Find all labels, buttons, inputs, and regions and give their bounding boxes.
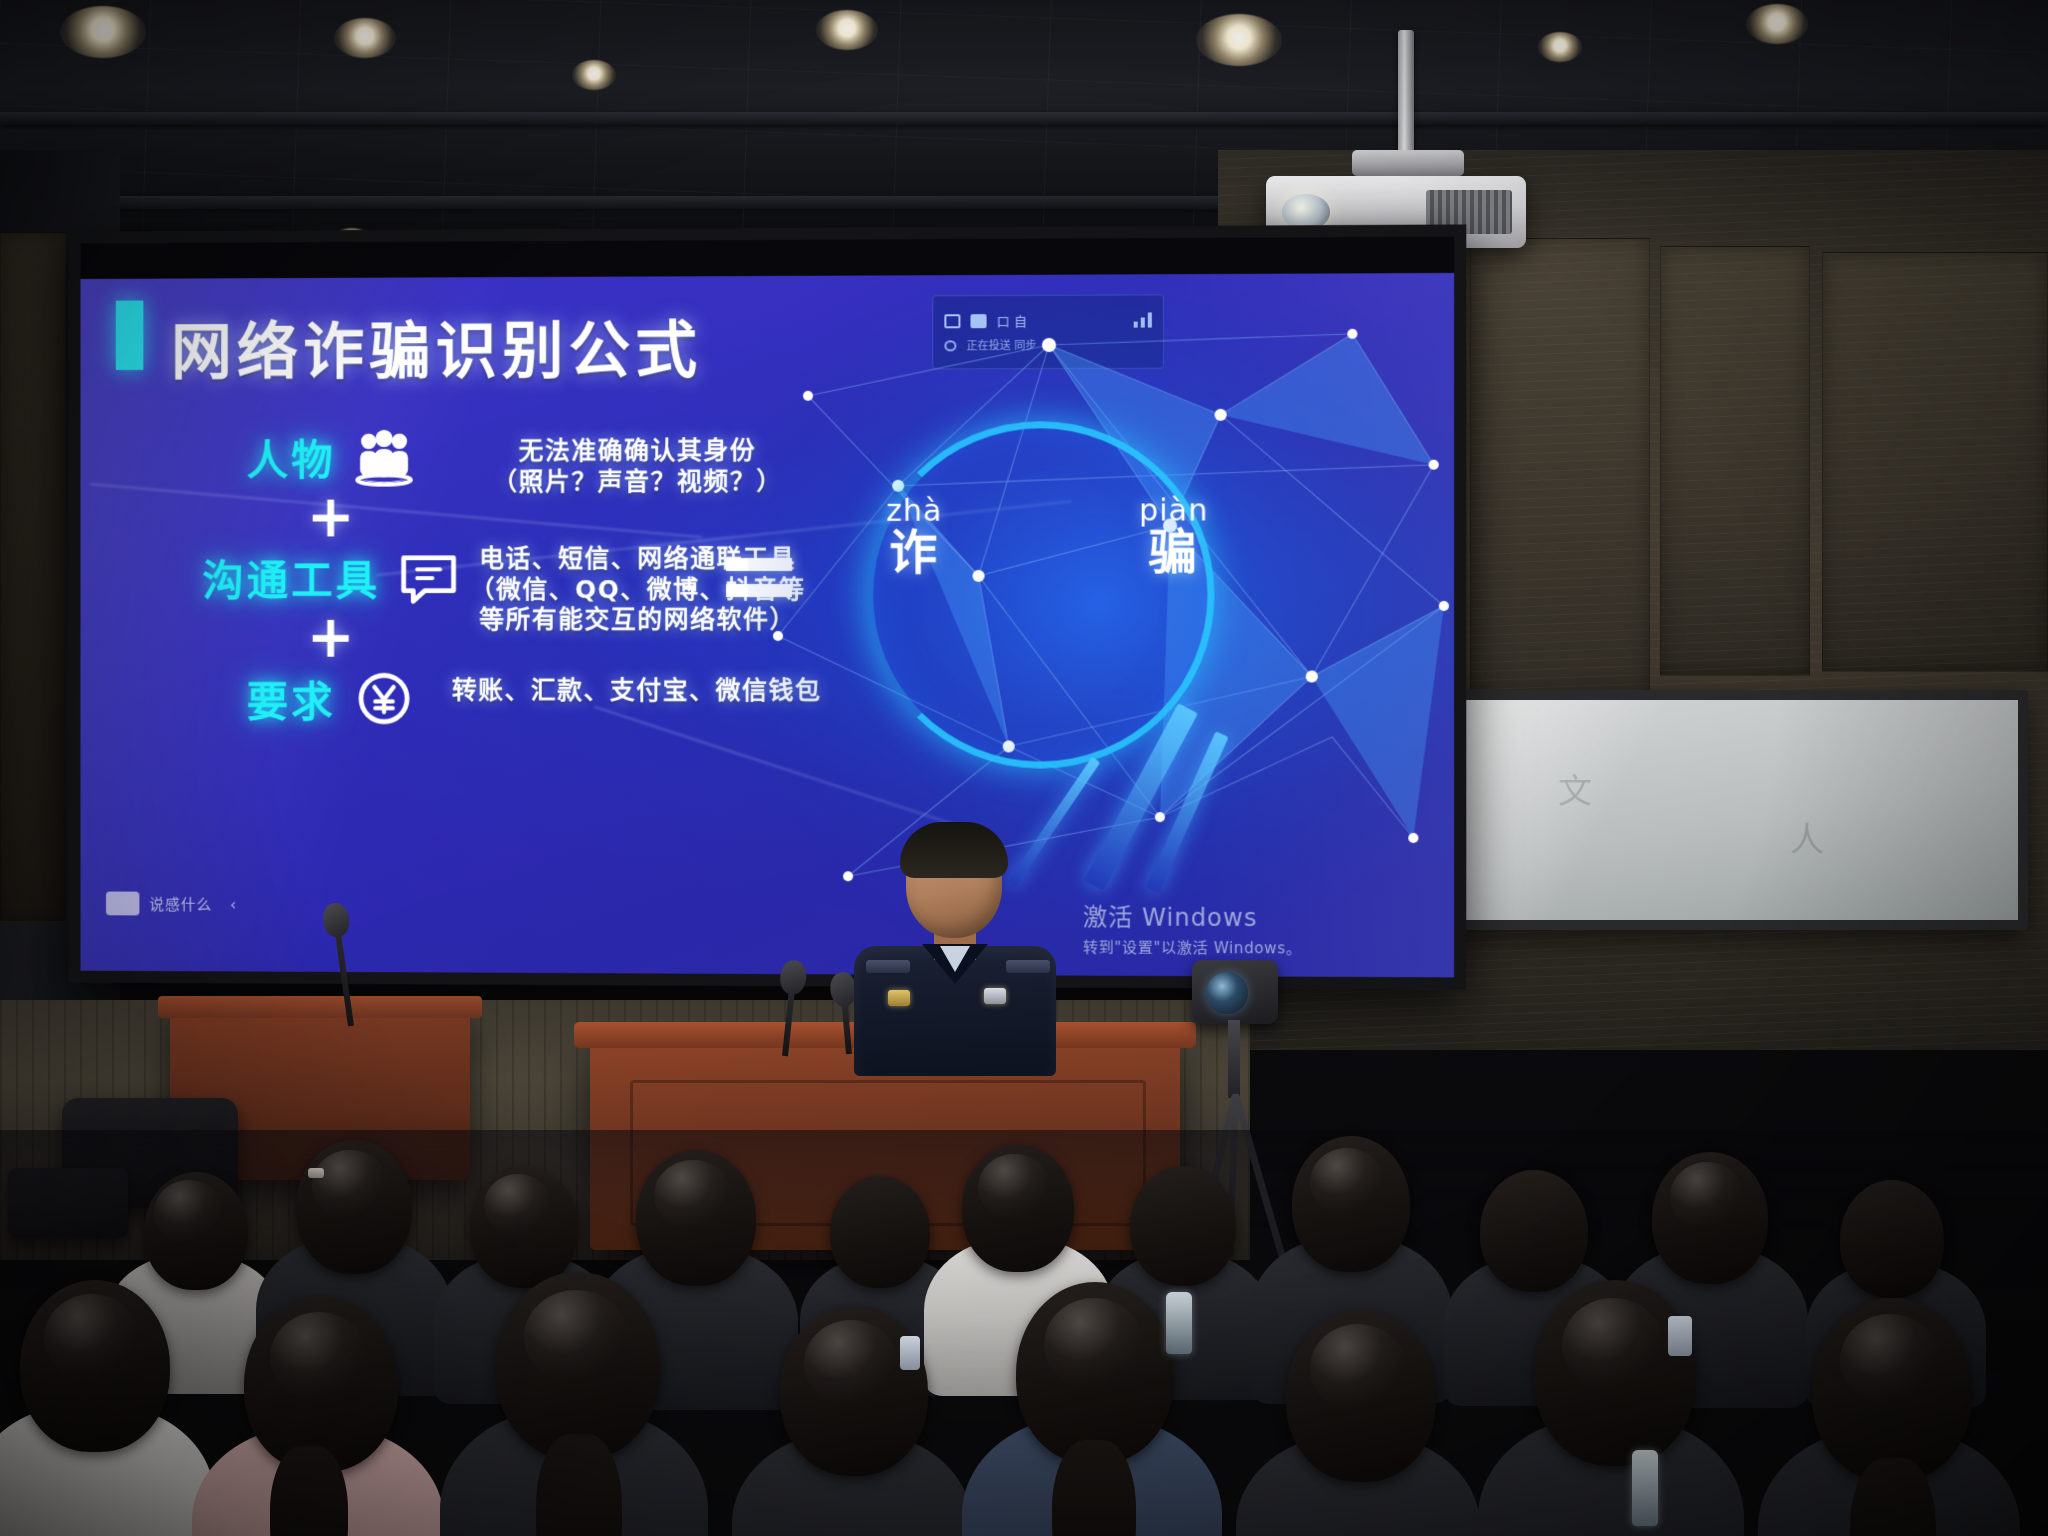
people-group-icon [353, 428, 414, 486]
lecture-hall-photo: 文 人 自动校正无需调整 口 自 [0, 0, 2048, 1536]
formula-terms-column: 人物 + [183, 427, 479, 730]
mobile-phone [1668, 1316, 1692, 1356]
whiteboard-mark: 文 [1558, 764, 1592, 813]
watermark-text: 说感什么 [149, 893, 212, 914]
watermark-logo-icon [106, 891, 139, 915]
presenter-epaulette [866, 960, 910, 973]
audience [0, 1130, 2048, 1536]
ceiling-beam [0, 112, 2048, 125]
ceiling-downlight [816, 10, 878, 50]
hair-clip [308, 1168, 324, 1178]
whiteboard: 文 人 [1408, 690, 2028, 930]
slide-title: 网络诈骗识别公式 [171, 300, 702, 391]
formula-term-row: 沟通工具 [183, 548, 479, 609]
wall-panel [1660, 246, 1810, 676]
result-character: 骗 [1139, 527, 1209, 578]
formula-term-label: 要求 [247, 668, 336, 729]
ceiling-downlight [1538, 32, 1582, 62]
fraud-result-text: zhà 诈 piàn 骗 [886, 495, 1208, 578]
projector-mount-pole [1398, 30, 1414, 158]
formula-term-label: 人物 [247, 427, 336, 488]
slide-accent-bar [116, 301, 144, 371]
water-bottle [1166, 1292, 1192, 1354]
mobile-phone [900, 1336, 920, 1370]
tripod-neck [1228, 1020, 1240, 1098]
watermark-arrow-icon: ‹ [230, 894, 236, 913]
yuan-currency-icon [353, 670, 414, 728]
result-character: 诈 [886, 527, 942, 578]
water-bottle [1632, 1450, 1658, 1526]
result-pinyin: piàn [1139, 495, 1209, 527]
ceiling-downlight [1746, 4, 1808, 44]
activation-line-2: 转到"设置"以激活 Windows。 [1083, 936, 1302, 958]
whiteboard-mark: 人 [1790, 812, 1824, 861]
formula-plus-operator: + [307, 494, 355, 540]
wall-panel [0, 232, 66, 922]
presentation-slide: 自动校正无需调整 口 自 正在投送 同步 网络诈骗识别公式 [80, 273, 1454, 977]
wall-panel [1822, 252, 2048, 672]
result-pinyin: zhà [886, 496, 942, 528]
windows-activation-watermark: 激活 Windows 转到"设置"以激活 Windows。 [1083, 897, 1302, 958]
chat-bubble-icon [398, 549, 459, 607]
result-char-pian: piàn 骗 [1139, 495, 1209, 577]
formula-term-row: 要求 [183, 668, 479, 729]
result-circle-ring [866, 421, 1214, 769]
formula-term-label: 沟通工具 [202, 548, 380, 609]
formula-plus-operator: + [307, 614, 355, 660]
ceiling-downlight [1196, 14, 1282, 66]
projector-bracket [1352, 150, 1464, 176]
presenter-hair [900, 822, 1008, 878]
camera-lens-icon [1206, 972, 1248, 1014]
ceiling-downlight [572, 60, 616, 90]
presenter-epaulette [1006, 960, 1050, 973]
activation-line-1: 激活 Windows [1083, 897, 1302, 933]
slide-watermark: 说感什么 ‹ [106, 891, 236, 915]
presenter-badge [888, 990, 910, 1006]
ceiling-downlight [334, 18, 396, 58]
result-char-zha: zhà 诈 [886, 496, 942, 578]
ceiling-downlight [60, 6, 146, 58]
formula-term-row: 人物 [183, 427, 479, 488]
projection-screen: 自动校正无需调整 口 自 正在投送 同步 网络诈骗识别公式 [69, 224, 1467, 989]
network-constellation-graphic: zhà 诈 piàn 骗 [748, 273, 1454, 977]
presenter-police-officer [860, 828, 1050, 1068]
presenter-name-tag [984, 988, 1006, 1004]
